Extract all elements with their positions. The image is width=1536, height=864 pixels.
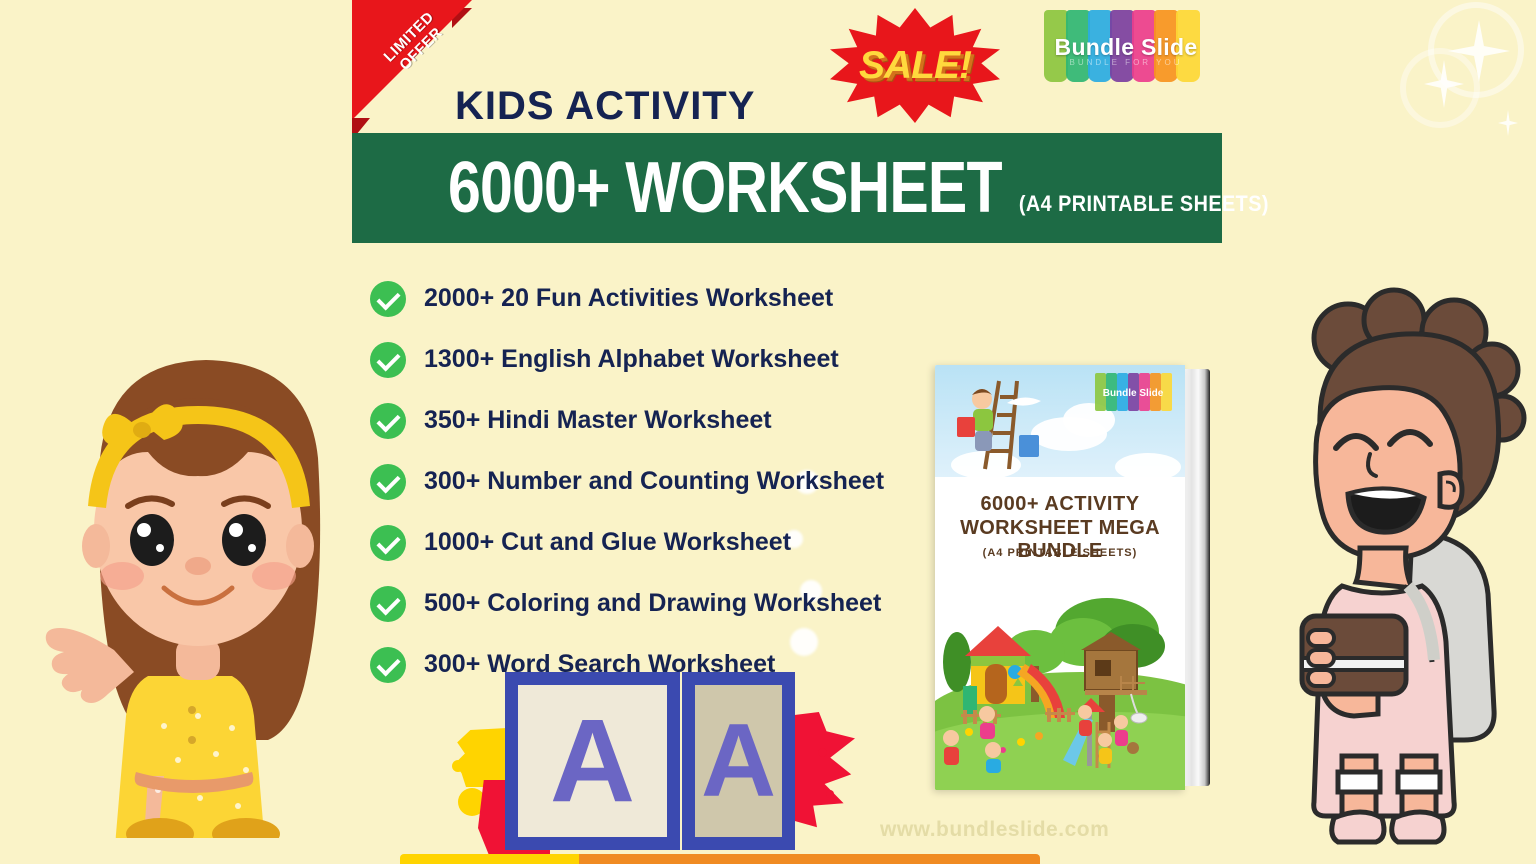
letter-glyph-left: A [518,685,667,837]
right-character-laughing-girl [1286,286,1536,856]
feature-list: 2000+ 20 Fun Activities Worksheet 1300+ … [370,268,950,695]
sale-label: SALE! [830,8,1000,123]
list-item: 350+ Hindi Master Worksheet [370,390,950,451]
paint-dot-red [826,790,834,798]
check-circle-icon [370,281,406,317]
book-page-edges [1184,369,1210,786]
paint-dot-red [818,748,827,757]
feature-label: 2000+ 20 Fun Activities Worksheet [424,284,833,313]
sparkle-halo-2 [1400,48,1480,128]
limited-offer-ribbon: LIMITED OFFER [352,0,472,140]
letter-glyph-right: A [695,685,782,837]
list-item: 1300+ English Alphabet Worksheet [370,329,950,390]
bottom-color-strip [400,854,1040,864]
check-circle-icon [370,586,406,622]
letter-card-left: A [505,672,680,850]
feature-label: 350+ Hindi Master Worksheet [424,406,772,435]
check-circle-icon [370,647,406,683]
letter-card-right: A [682,672,795,850]
list-item: 1000+ Cut and Glue Worksheet [370,512,950,573]
check-circle-icon [370,342,406,378]
cloud-shape [1115,453,1181,481]
brand-logo: Bundle Slide BUNDLE FOR YOU [1040,8,1212,86]
headline-subtext: (A4 PRINTABLE SHEETS) [1019,191,1269,221]
page-eyebrow-title: KIDS ACTIVITY [455,84,755,129]
site-watermark: www.bundleslide.com [880,818,1109,842]
check-circle-icon [370,464,406,500]
cover-playground-scene [935,590,1185,790]
list-item: 500+ Coloring and Drawing Worksheet [370,573,950,634]
book-cover: Bundle Slide 6000+ ACTIVITY WORKSHEET ME… [935,365,1185,790]
feature-label: 300+ Number and Counting Worksheet [424,467,884,496]
boy-on-ladder-illustration [955,377,1053,473]
playground-illustration [935,590,1185,790]
left-character-waving-girl [40,278,340,838]
headline-text: 6000+ WORKSHEET [448,147,1002,229]
cover-brand-name: Bundle Slide [1095,373,1171,413]
check-circle-icon [370,525,406,561]
cover-brand-logo: Bundle Slide [1095,373,1171,413]
list-item: 300+ Number and Counting Worksheet [370,451,950,512]
book-mockup: Bundle Slide 6000+ ACTIVITY WORKSHEET ME… [935,365,1210,790]
alphabet-letter-cards: A A [505,672,795,852]
feature-label: 1000+ Cut and Glue Worksheet [424,528,791,557]
headline-banner: 6000+ WORKSHEET (A4 PRINTABLE SHEETS) [352,133,1222,243]
cover-subtitle: (A4 PRINTABLE SHEETS) [935,547,1185,559]
brand-name: Bundle Slide [1040,8,1212,86]
check-circle-icon [370,403,406,439]
sale-badge: SALE! [830,8,1000,123]
feature-label: 1300+ English Alphabet Worksheet [424,345,839,374]
paint-dot-yellow [452,760,464,772]
feature-label: 500+ Coloring and Drawing Worksheet [424,589,881,618]
list-item: 2000+ 20 Fun Activities Worksheet [370,268,950,329]
cover-title-line-1: 6000+ ACTIVITY [935,493,1185,516]
sparkle-icon-small [1498,110,1518,136]
brand-tagline: BUNDLE FOR YOU [1040,58,1212,67]
